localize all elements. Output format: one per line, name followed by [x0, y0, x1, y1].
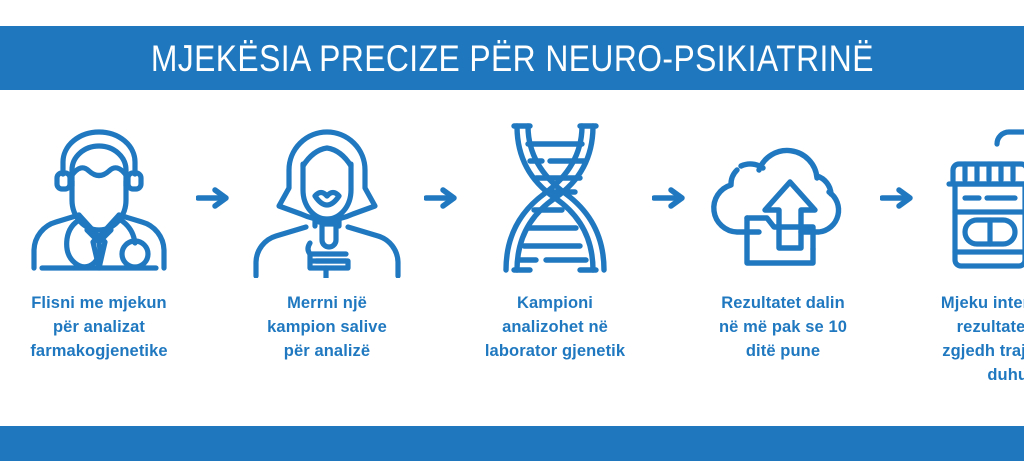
step-5-caption: Mjeku interpreton rezultatet dhe zgjedh … [918, 292, 1024, 388]
step-2: Merrni një kampion salive për analizë [234, 118, 420, 364]
step-1: Flisni me mjekun për analizat farmakogje… [6, 118, 192, 364]
step-1-caption: Flisni me mjekun për analizat farmakogje… [6, 292, 192, 364]
pill-bottle-blister-icon [935, 118, 1024, 278]
step-3-caption: Kampioni analizohet në laborator gjeneti… [462, 292, 648, 364]
step-2-caption: Merrni një kampion salive për analizë [234, 292, 420, 364]
header-band: MJEKËSIA PRECIZE PËR NEURO-PSIKIATRINË [0, 26, 1024, 90]
step-5: Mjeku interpreton rezultatet dhe zgjedh … [918, 118, 1024, 388]
step-4-caption: Rezultatet dalin në më pak se 10 ditë pu… [690, 292, 876, 364]
arrow-2-icon [420, 118, 462, 278]
arrow-1-icon [192, 118, 234, 278]
page-title: MJEKËSIA PRECIZE PËR NEURO-PSIKIATRINË [150, 40, 873, 77]
footer-band [0, 426, 1024, 461]
arrow-3-icon [648, 118, 690, 278]
saliva-sample-woman-icon [252, 118, 402, 278]
step-4: Rezultatet dalin në më pak se 10 ditë pu… [690, 118, 876, 364]
step-3: Kampioni analizohet në laborator gjeneti… [462, 118, 648, 364]
dna-helix-icon [490, 118, 620, 278]
arrow-4-icon [876, 118, 918, 278]
steps-row: Flisni me mjekun për analizat farmakogje… [0, 118, 1024, 418]
doctor-icon [24, 118, 174, 278]
cloud-upload-icon [703, 118, 863, 278]
